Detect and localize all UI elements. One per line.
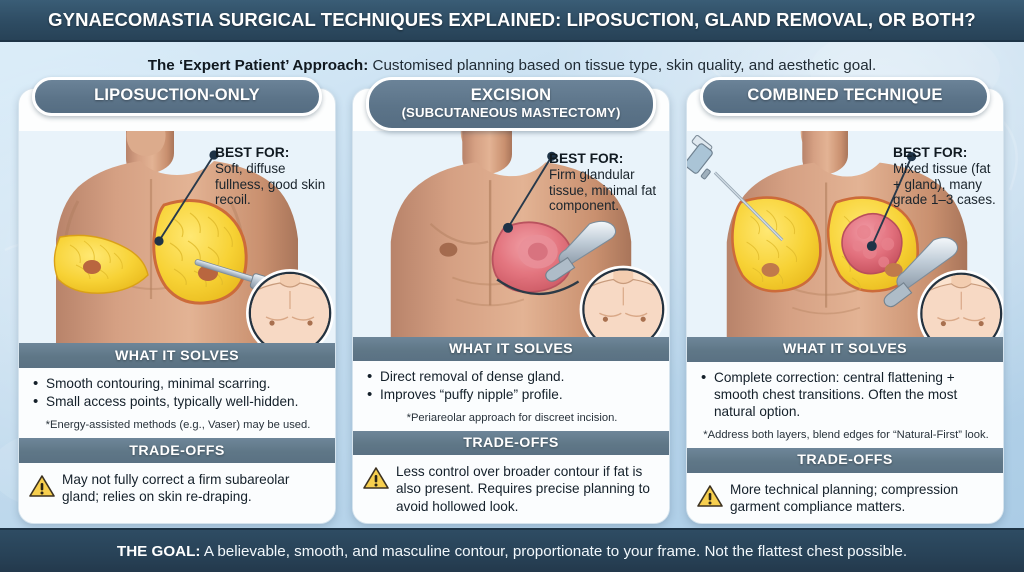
footer-lead: THE GOAL: (117, 543, 201, 560)
illustration-excision: BEST FOR: Firm glandular tissue, minimal… (353, 131, 669, 337)
callout-body-2: Firm glandular tissue, minimal fat compo… (549, 167, 669, 214)
footer-bar: THE GOAL: A believable, smooth, and masc… (0, 528, 1024, 572)
solves-list-1: Smooth contouring, minimal scarring. Sma… (31, 375, 325, 411)
card-liposuction-only[interactable]: LIPOSUCTION-ONLY (18, 88, 336, 524)
footnote-3: *Address both layers, blend edges for “N… (699, 429, 993, 442)
tradeoff-text-1: May not fully correct a firm subareolar … (62, 471, 325, 506)
solves-body-1: Smooth contouring, minimal scarring. Sma… (19, 368, 335, 438)
illustration-combined: BEST FOR: Mixed tissue (fat + gland), ma… (687, 131, 1003, 337)
solves-body-3: Complete correction: central flattening … (687, 362, 1003, 449)
band-tradeoffs-1: TRADE-OFFS (19, 438, 335, 463)
solves-list-2: Direct removal of dense gland. Improves … (365, 368, 659, 404)
warning-triangle-icon (29, 474, 55, 498)
fat-layer-left-3 (732, 198, 820, 292)
band-solves-2: WHAT IT SOLVES (353, 337, 669, 361)
header-bar: GYNAECOMASTIA SURGICAL TECHNIQUES EXPLAI… (0, 0, 1024, 42)
list-item: Smooth contouring, minimal scarring. (31, 375, 325, 392)
footer-goal: THE GOAL: A believable, smooth, and masc… (117, 543, 907, 560)
list-item: Improves “puffy nipple” profile. (365, 386, 659, 403)
card-title-3: COMBINED TECHNIQUE (717, 87, 973, 105)
band-label-solves-3: WHAT IT SOLVES (783, 341, 907, 357)
footnote-2: *Periareolar approach for discreet incis… (365, 412, 659, 425)
footer-rest: A believable, smooth, and masculine cont… (200, 543, 907, 560)
warning-triangle-icon (697, 484, 723, 508)
band-tradeoffs-2: TRADE-OFFS (353, 431, 669, 455)
callout-head-2: BEST FOR: (549, 151, 669, 167)
footnote-1: *Energy-assisted methods (e.g., Vaser) m… (31, 419, 325, 432)
card-subtitle-2: (SUBCUTANEOUS MASTECTOMY) (383, 105, 639, 120)
band-solves-3: WHAT IT SOLVES (687, 337, 1003, 361)
callout-best-for-1: BEST FOR: Soft, diffuse fullness, good s… (215, 145, 333, 208)
band-label-solves-1: WHAT IT SOLVES (115, 348, 239, 364)
list-item: Direct removal of dense gland. (365, 368, 659, 385)
card-title-pill-2: EXCISION (SUBCUTANEOUS MASTECTOMY) (366, 77, 656, 131)
band-solves-1: WHAT IT SOLVES (19, 343, 335, 368)
solves-body-2: Direct removal of dense gland. Improves … (353, 361, 669, 431)
callout-best-for-3: BEST FOR: Mixed tissue (fat + gland), ma… (893, 145, 1001, 208)
tradeoff-text-2: Less control over broader contour if fat… (396, 463, 659, 515)
callout-head-3: BEST FOR: (893, 145, 1001, 161)
page-title: GYNAECOMASTIA SURGICAL TECHNIQUES EXPLAI… (48, 9, 976, 31)
warning-triangle-icon (363, 466, 389, 490)
band-label-solves-2: WHAT IT SOLVES (449, 341, 573, 357)
callout-head-1: BEST FOR: (215, 145, 333, 161)
subtitle-rest: Customised planning based on tissue type… (368, 57, 876, 74)
tradeoff-body-1: May not fully correct a firm subareolar … (19, 463, 335, 523)
card-title-1: LIPOSUCTION-ONLY (49, 87, 305, 105)
tradeoff-text-3: More technical planning; compression gar… (730, 481, 993, 516)
band-label-tradeoffs-3: TRADE-OFFS (797, 452, 892, 468)
callout-body-1: Soft, diffuse fullness, good skin recoil… (215, 161, 333, 208)
subtitle: The ‘Expert Patient’ Approach: Customise… (148, 57, 877, 74)
band-label-tradeoffs-2: TRADE-OFFS (463, 435, 558, 451)
card-title-pill-1: LIPOSUCTION-ONLY (32, 77, 322, 116)
technique-cards: LIPOSUCTION-ONLY (18, 88, 1006, 528)
tradeoff-body-3: More technical planning; compression gar… (687, 473, 1003, 524)
tradeoff-body-2: Less control over broader contour if fat… (353, 455, 669, 523)
band-label-tradeoffs-1: TRADE-OFFS (129, 443, 224, 459)
card-combined-technique[interactable]: COMBINED TECHNIQUE (686, 88, 1004, 524)
card-title-pill-3: COMBINED TECHNIQUE (700, 77, 990, 116)
card-title-2: EXCISION (383, 87, 639, 105)
subtitle-lead: The ‘Expert Patient’ Approach: (148, 57, 369, 74)
callout-best-for-2: BEST FOR: Firm glandular tissue, minimal… (549, 151, 669, 214)
card-excision[interactable]: EXCISION (SUBCUTANEOUS MASTECTOMY) (352, 88, 670, 524)
band-tradeoffs-3: TRADE-OFFS (687, 448, 1003, 472)
callout-body-3: Mixed tissue (fat + gland), many grade 1… (893, 161, 1001, 208)
illustration-liposuction: BEST FOR: Soft, diffuse fullness, good s… (19, 131, 335, 343)
list-item: Complete correction: central flattening … (699, 369, 993, 421)
solves-list-3: Complete correction: central flattening … (699, 369, 993, 421)
list-item: Small access points, typically well-hidd… (31, 393, 325, 410)
infographic-root: GYNAECOMASTIA SURGICAL TECHNIQUES EXPLAI… (0, 0, 1024, 572)
